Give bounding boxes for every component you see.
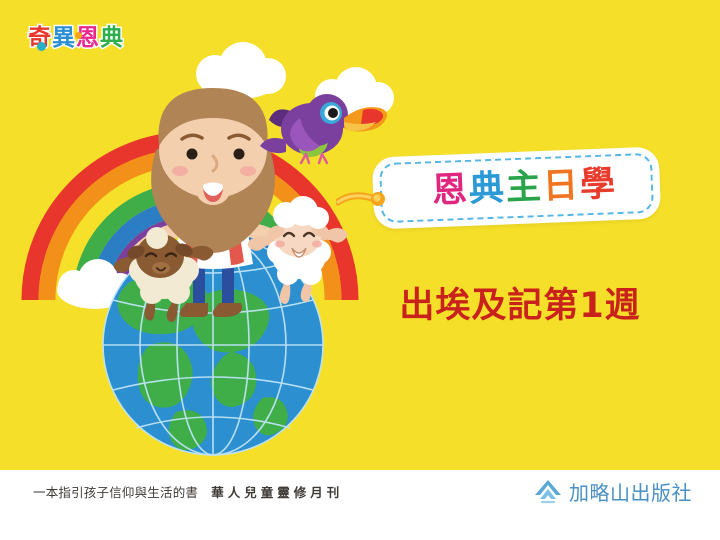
mountain-icon [533, 476, 563, 510]
title-char-2: 典 [468, 169, 504, 208]
footer-bar: 一本指引孩子信仰與生活的書 華人兒童靈修月刊 加略山出版社 [0, 470, 720, 540]
title-card: 恩 典 主 日 學 [372, 147, 662, 230]
cover-illustration [0, 0, 400, 470]
brand-logo-dot-icon [37, 42, 46, 51]
card-rope-graphic [336, 186, 396, 216]
lesson-subtitle: 出埃及記第1週 [370, 286, 670, 326]
title-card-text: 恩 典 主 日 學 [372, 147, 662, 230]
footer-tagline-sub: 華人兒童靈修月刊 [211, 485, 343, 500]
publisher-logo: 加略山出版社 [533, 476, 692, 510]
brand-logo-dot-secondary-icon [75, 32, 82, 39]
brand-logo-char-4: 典 [100, 26, 123, 51]
footer-tagline: 一本指引孩子信仰與生活的書 華人兒童靈修月刊 [33, 482, 343, 501]
publisher-name: 加略山出版社 [569, 481, 692, 505]
title-char-3: 主 [505, 168, 541, 207]
brand-logo-char-2: 異 [52, 26, 75, 51]
title-char-5: 學 [579, 165, 615, 204]
brand-logo: 奇 異 恩 典 [28, 26, 123, 51]
footer-tagline-main: 一本指引孩子信仰與生活的書 [33, 485, 198, 500]
cover-page: 奇 異 恩 典 恩 典 主 日 學 出埃及記第1週 一本指引孩子信仰與生活的書 … [0, 0, 720, 540]
title-char-1: 恩 [431, 171, 467, 210]
title-char-4: 日 [542, 167, 578, 206]
